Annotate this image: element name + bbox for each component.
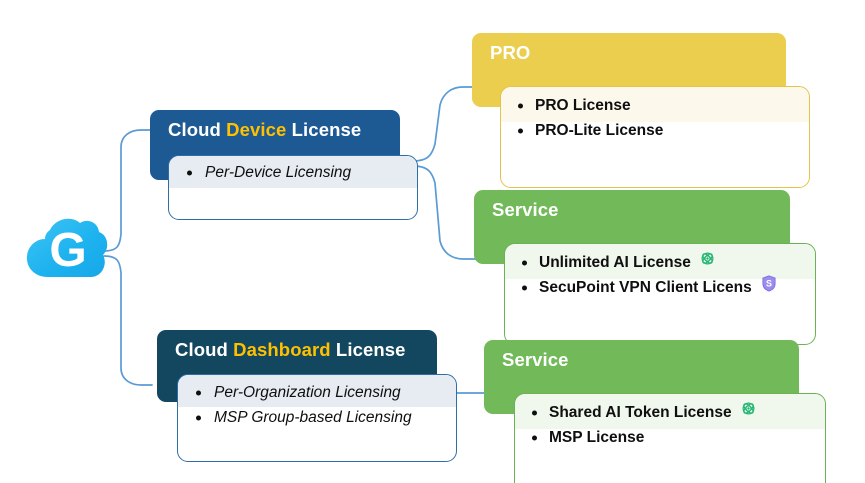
list-item-label: PRO-Lite License — [535, 122, 663, 139]
node-title-cloud-device-license: Cloud Device License — [168, 119, 361, 141]
shield-s-icon: S — [761, 275, 777, 300]
list-item: PRO-Lite License — [501, 118, 809, 143]
list-item: PRO License — [501, 93, 809, 118]
connector-logo-to-device — [104, 130, 152, 251]
list-item: SecuPoint VPN Client Licens S — [505, 275, 815, 300]
bullet-dot — [522, 260, 527, 265]
connector-device-to-pro — [413, 87, 475, 161]
bullet-dot — [532, 410, 537, 415]
list-item-label: MSP License — [549, 429, 644, 446]
node-cloud-dashboard-license[interactable]: Cloud Dashboard License Per-Organization… — [157, 330, 460, 455]
list-item: Per-Organization Licensing — [178, 380, 456, 405]
node-title-service-device: Service — [492, 199, 559, 221]
list-item: MSP Group-based Licensing — [178, 405, 456, 430]
node-panel-service-dashboard: Shared AI Token License — [514, 393, 826, 483]
item-list: Shared AI Token License — [515, 394, 825, 450]
list-item: Per-Device Licensing — [169, 160, 417, 185]
item-list: Per-Organization Licensing MSP Group-bas… — [178, 375, 456, 430]
list-item-label: SecuPoint VPN Client Licens — [539, 279, 752, 296]
svg-text:S: S — [766, 278, 772, 288]
list-item: MSP License — [515, 425, 825, 450]
list-item-label: MSP Group-based Licensing — [214, 409, 412, 426]
ai-atom-icon — [700, 249, 715, 274]
node-panel-cloud-device-license: Per-Device Licensing — [168, 155, 418, 220]
node-title-pro: PRO — [490, 42, 530, 64]
cloud-g-logo: G — [24, 214, 110, 288]
list-item-label: PRO License — [535, 97, 631, 114]
node-pro[interactable]: PRO PRO License PRO-Lite License — [472, 33, 810, 158]
bullet-dot — [518, 103, 523, 108]
ai-atom-icon — [741, 399, 756, 424]
node-service-dashboard[interactable]: Service Shared AI Token License — [484, 340, 822, 470]
node-service-device[interactable]: Service Unlimited AI License — [474, 190, 814, 318]
node-cloud-device-license[interactable]: Cloud Device License Per-Device Licensin… — [150, 110, 418, 220]
connector-logo-to-dashboard — [104, 256, 152, 385]
list-item-label: Per-Organization Licensing — [214, 384, 401, 401]
list-item-label: Unlimited AI License — [539, 254, 691, 271]
item-list: Unlimited AI License — [505, 244, 815, 301]
bullet-dot — [196, 390, 201, 395]
connector-device-to-service — [413, 166, 477, 259]
item-list: PRO License PRO-Lite License — [501, 87, 809, 143]
bullet-dot — [518, 128, 523, 133]
bullet-dot — [187, 170, 192, 175]
logo-letter: G — [49, 224, 86, 277]
node-panel-pro: PRO License PRO-Lite License — [500, 86, 810, 188]
node-panel-service-device: Unlimited AI License — [504, 243, 816, 345]
bullet-dot — [196, 415, 201, 420]
list-item-label: Shared AI Token License — [549, 404, 732, 421]
list-item: Shared AI Token License — [515, 400, 825, 425]
bullet-dot — [532, 435, 537, 440]
diagram-canvas: G Cloud Device License Per-Device Licens… — [0, 0, 865, 483]
node-title-service-dashboard: Service — [502, 349, 569, 371]
item-list: Per-Device Licensing — [169, 156, 417, 185]
list-item-label: Per-Device Licensing — [205, 164, 351, 181]
bullet-dot — [522, 286, 527, 291]
node-panel-cloud-dashboard-license: Per-Organization Licensing MSP Group-bas… — [177, 374, 457, 462]
node-title-cloud-dashboard-license: Cloud Dashboard License — [175, 339, 406, 361]
list-item: Unlimited AI License — [505, 250, 815, 275]
